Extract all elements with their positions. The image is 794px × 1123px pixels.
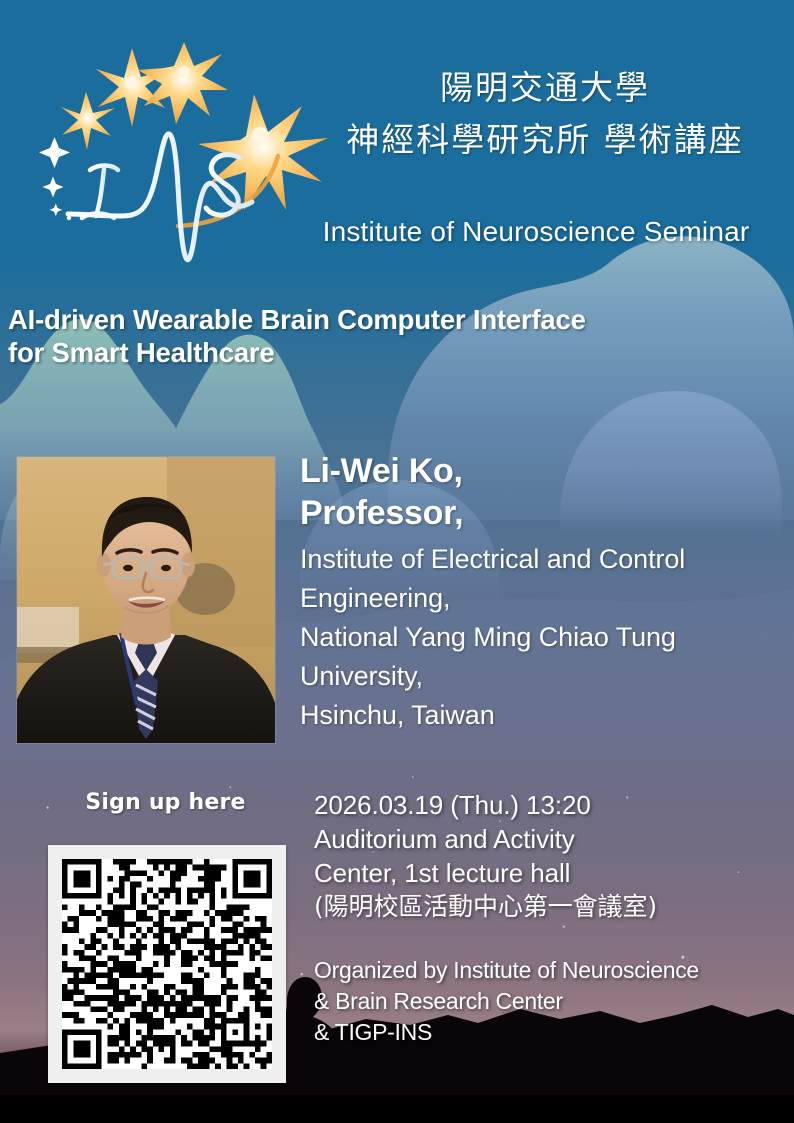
affiliation-line-3: National Yang Ming Chiao Tung — [300, 622, 676, 652]
event-datetime: 2026.03.19 (Thu.) 13:20 — [314, 788, 788, 822]
speaker-photo — [17, 457, 275, 743]
event-venue-line2: Center, 1st lecture hall — [314, 856, 788, 890]
registration-qr-code[interactable] — [48, 845, 286, 1083]
event-venue-chinese: (陽明校區活動中心第一會議室) — [314, 890, 788, 924]
english-seminar-subtitle: Institute of Neuroscience Seminar — [286, 216, 786, 248]
talk-title: AI-driven Wearable Brain Computer Interf… — [8, 303, 778, 369]
speaker-info: Li-Wei Ko, Professor, Institute of Elect… — [300, 450, 786, 735]
chinese-university-name: 陽明交通大學 — [310, 62, 780, 114]
qr-code-image[interactable] — [62, 859, 272, 1069]
speaker-affiliation: Institute of Electrical and Control Engi… — [300, 540, 786, 735]
sign-up-label: Sign up here — [38, 790, 293, 815]
chinese-header: 陽明交通大學 神經科學研究所 學術講座 — [310, 62, 780, 166]
chinese-seminar-series: 神經科學研究所 學術講座 — [310, 114, 780, 166]
event-venue-line1: Auditorium and Activity — [314, 822, 788, 856]
organizer-line3: & TIGP-INS — [314, 1017, 788, 1048]
organizers: Organized by Institute of Neuroscience &… — [314, 955, 788, 1048]
affiliation-line-1: Institute of Electrical and Control — [300, 544, 685, 574]
organizer-line2: & Brain Research Center — [314, 986, 788, 1017]
affiliation-line-2: Engineering, — [300, 583, 450, 613]
affiliation-line-4: University, — [300, 661, 423, 691]
talk-title-line2: for Smart Healthcare — [8, 337, 275, 368]
speaker-name: Li-Wei Ko, Professor, — [300, 450, 786, 534]
seminar-poster: 陽明交通大學 神經科學研究所 學術講座 Institute of Neurosc… — [0, 0, 794, 1123]
ins-logo-icon — [28, 36, 328, 266]
speaker-title-line: Professor, — [300, 494, 463, 532]
affiliation-line-5: Hsinchu, Taiwan — [300, 700, 495, 730]
organizer-line1: Organized by Institute of Neuroscience — [314, 955, 788, 986]
speaker-name-line1: Li-Wei Ko, — [300, 452, 463, 490]
bottom-black-band — [0, 1095, 794, 1123]
event-details: 2026.03.19 (Thu.) 13:20 Auditorium and A… — [314, 788, 788, 924]
talk-title-line1: AI-driven Wearable Brain Computer Interf… — [8, 304, 586, 335]
